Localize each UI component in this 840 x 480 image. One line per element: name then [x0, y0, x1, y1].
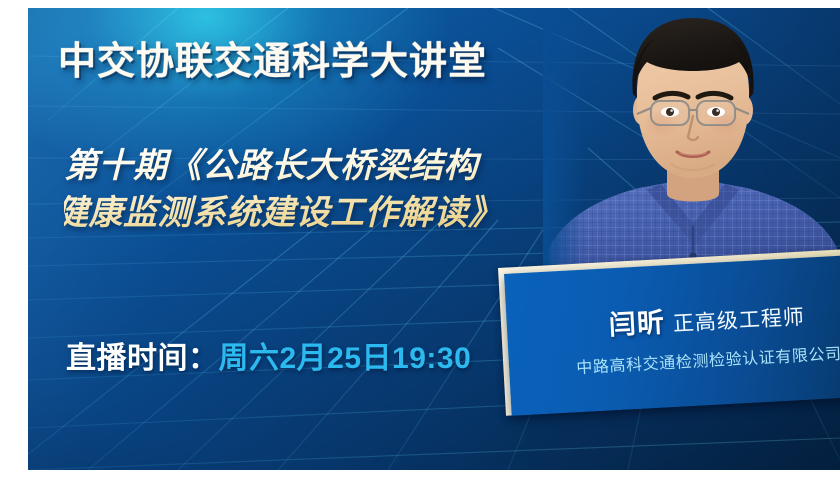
speaker-name: 闫昕 [608, 300, 666, 342]
live-time-row: 直播时间：周六2月25日19:30 [66, 333, 471, 377]
speaker-organization: 中路高科交通检测检验认证有限公司 [576, 339, 840, 377]
speaker-title: 正高级工程师 [672, 300, 805, 337]
speaker-name-card: 闫昕 正高级工程师 中路高科交通检测检验认证有限公司 [490, 258, 840, 438]
page-title: 中交协联交通科学大讲堂 [58, 30, 487, 85]
subtitle-line-1: 第十期《公路长大桥梁结构 [64, 143, 594, 190]
card-content: 闫昕 正高级工程师 中路高科交通检测检验认证有限公司 [504, 254, 840, 416]
event-subtitle: 第十期《公路长大桥梁结构 健康监测系统建设工作解读》 [64, 143, 594, 237]
speaker-identity-row: 闫昕 正高级工程师 [608, 292, 806, 342]
live-time-label: 直播时间： [66, 342, 219, 375]
poster-canvas: 中交协联交通科学大讲堂 第十期《公路长大桥梁结构 健康监测系统建设工作解读》 直… [0, 0, 840, 480]
live-time-value: 周六2月25日19:30 [219, 342, 472, 375]
event-poster: 中交协联交通科学大讲堂 第十期《公路长大桥梁结构 健康监测系统建设工作解读》 直… [28, 8, 840, 470]
subtitle-line-2: 健康监测系统建设工作解读》 [64, 190, 594, 237]
